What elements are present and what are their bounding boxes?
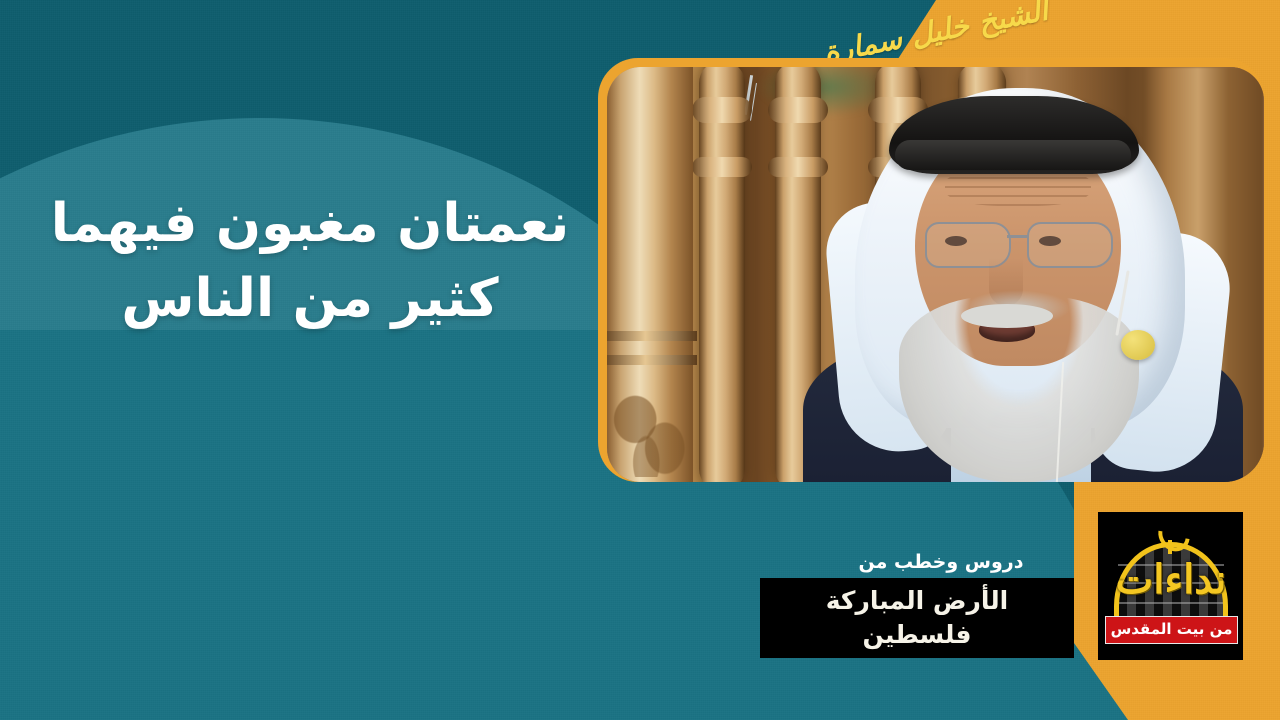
poster-canvas: الشيخ خليل سمارة نعمتان مغبون فيهما كثير… [0, 0, 1280, 720]
caption-black-line-2: فلسطين [760, 618, 1074, 652]
speaker-photo [607, 67, 1264, 482]
page-title: نعمتان مغبون فيهما كثير من الناس [40, 186, 580, 337]
glasses-bridge [1007, 235, 1029, 238]
lens-right [1027, 222, 1113, 268]
column-carving [613, 381, 687, 477]
portrait-frame [598, 58, 1264, 482]
microphone-icon [1121, 330, 1155, 360]
caption-black-line-1: الأرض المباركة [760, 584, 1074, 618]
column-ring-1 [607, 331, 697, 341]
mustache [961, 304, 1053, 328]
column-ring-2 [607, 355, 697, 365]
channel-logo[interactable]: نداءات من بيت المقدس [1098, 512, 1243, 660]
wooden-column [607, 67, 693, 482]
caption-black-block: الأرض المباركة فلسطين [760, 578, 1074, 658]
headline-line-2: كثير من الناس [40, 261, 580, 336]
agal-headband-lower [895, 140, 1131, 170]
baluster-1 [699, 67, 745, 482]
logo-wordmark: نداءات [1106, 556, 1236, 603]
logo-tagline-banner: من بيت المقدس [1105, 616, 1238, 644]
speaker-figure [803, 82, 1243, 482]
caption-orange-line: دروس وخطب من [808, 546, 1074, 578]
headline-line-1: نعمتان مغبون فيهما [51, 193, 570, 254]
